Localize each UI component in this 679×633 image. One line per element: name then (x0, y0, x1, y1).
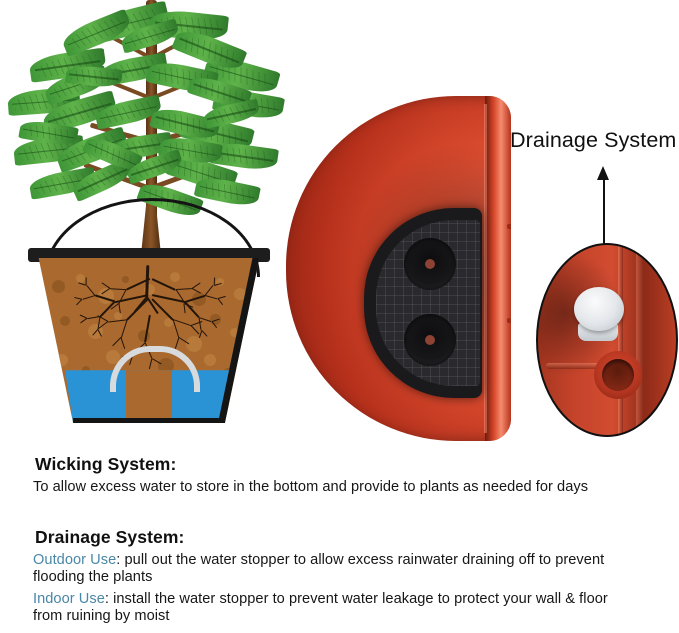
outdoor-use-line1: : pull out the water stopper to allow ex… (116, 552, 604, 568)
planter-cut-wall (485, 96, 511, 441)
plant-cross-section-illustration (0, 0, 300, 440)
soil-speckle (52, 280, 65, 293)
soil-speckle (114, 312, 122, 320)
callout-arrow-line (603, 175, 605, 249)
insert-tab-lower (507, 318, 511, 323)
detail-oval-frame (536, 243, 678, 437)
water-stopper (574, 287, 624, 331)
planter-cutaway-photo (286, 96, 511, 441)
indoor-use-line1: : install the water stopper to prevent w… (105, 591, 608, 607)
indoor-use-line2: from ruining by moist (33, 608, 170, 624)
outdoor-use-description: Outdoor Use: pull out the water stopper … (33, 552, 604, 586)
soil-speckle (170, 272, 180, 282)
wicking-system-heading: Wicking System: (35, 454, 176, 475)
pot-body (34, 258, 264, 423)
indoor-use-label: Indoor Use (33, 591, 105, 607)
pot-assembly (18, 200, 280, 440)
planter-shell (286, 96, 511, 441)
description-text-block: Wicking System: To allow excess water to… (0, 446, 679, 633)
infographic-canvas: Drainage System Wicking System: To allow… (0, 0, 679, 633)
soil-speckle (122, 276, 129, 283)
drain-hole-bore (602, 359, 634, 391)
callout-label: Drainage System (510, 128, 676, 153)
wicking-system-description: To allow excess water to store in the bo… (33, 479, 588, 496)
soil-speckle (204, 354, 216, 366)
insert-tab-upper (507, 224, 511, 229)
soil-speckle (76, 274, 85, 283)
outdoor-use-label: Outdoor Use (33, 552, 116, 568)
outdoor-use-line2: flooding the plants (33, 569, 152, 585)
stopper-detail-callout (536, 243, 674, 433)
drainage-system-heading: Drainage System: (35, 527, 184, 548)
planter-wall-highlight (484, 104, 487, 433)
wick-well-top-core (425, 259, 435, 269)
soil-speckle (60, 316, 70, 326)
wick-well-bottom-core (425, 335, 435, 345)
indoor-use-description: Indoor Use: install the water stopper to… (33, 591, 608, 625)
